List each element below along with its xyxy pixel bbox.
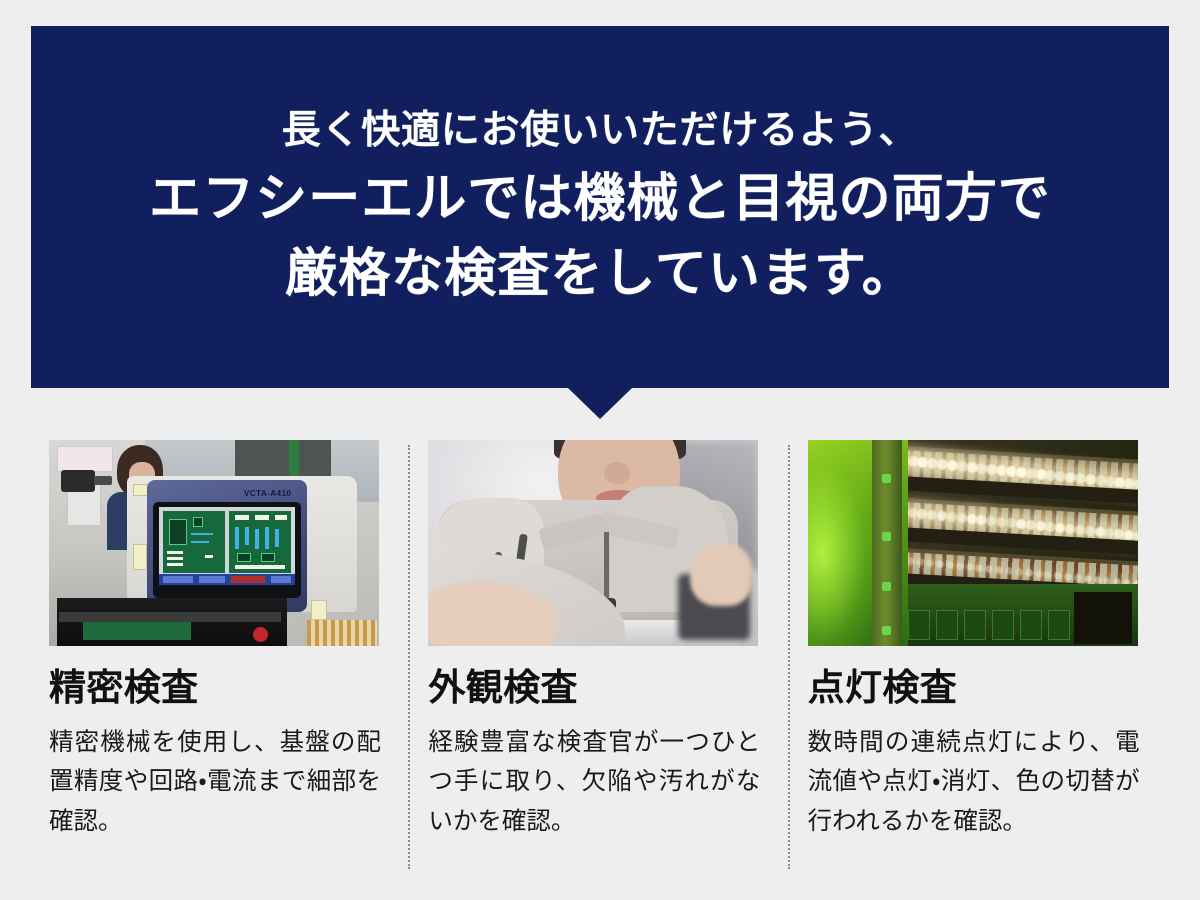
hero-banner: 長く快適にお使いいただけるよう、 エフシーエルでは機械と目視の両方で 厳格な検査… <box>31 26 1169 388</box>
card-title-visual: 外観検査 <box>428 668 771 709</box>
hero-line-1: 長く快適にお使いいただけるよう、 <box>282 101 918 161</box>
inspection-card-precision: VCTA-A410 <box>31 440 410 874</box>
inspection-card-list: VCTA-A410 <box>31 440 1169 874</box>
card-body-lighting: 数時間の連続点灯により、電流値や点灯・消灯、色の切替が行われるかを確認。 <box>808 723 1140 842</box>
card-title-precision: 精密検査 <box>49 668 392 709</box>
visual-inspection-photo <box>428 440 758 646</box>
hero-line-2: エフシーエルでは機械と目視の両方で <box>149 162 1051 237</box>
hero-box: 長く快適にお使いいただけるよう、 エフシーエルでは機械と目視の両方で 厳格な検査… <box>31 26 1169 388</box>
card-body-visual: 経験豊富な検査官が一つひとつ手に取り、欠陥や汚れがないかを確認。 <box>428 723 760 842</box>
inspection-card-visual: 外観検査 経験豊富な検査官が一つひとつ手に取り、欠陥や汚れがないかを確認。 <box>410 440 789 874</box>
card-body-precision: 精密機械を使用し、基盤の配置精度や回路・電流まで細部を確認。 <box>49 723 381 842</box>
hero-line-3: 厳格な検査をしています。 <box>285 237 915 312</box>
triangle-down-icon <box>568 388 632 419</box>
machine-model-label: VCTA-A410 <box>244 489 291 498</box>
inspection-card-lighting: 点灯検査 数時間の連続点灯により、電流値や点灯・消灯、色の切替が行われるかを確認… <box>790 440 1169 874</box>
card-title-lighting: 点灯検査 <box>808 668 1151 709</box>
lighting-inspection-photo <box>808 440 1138 646</box>
precision-inspection-photo: VCTA-A410 <box>49 440 379 646</box>
